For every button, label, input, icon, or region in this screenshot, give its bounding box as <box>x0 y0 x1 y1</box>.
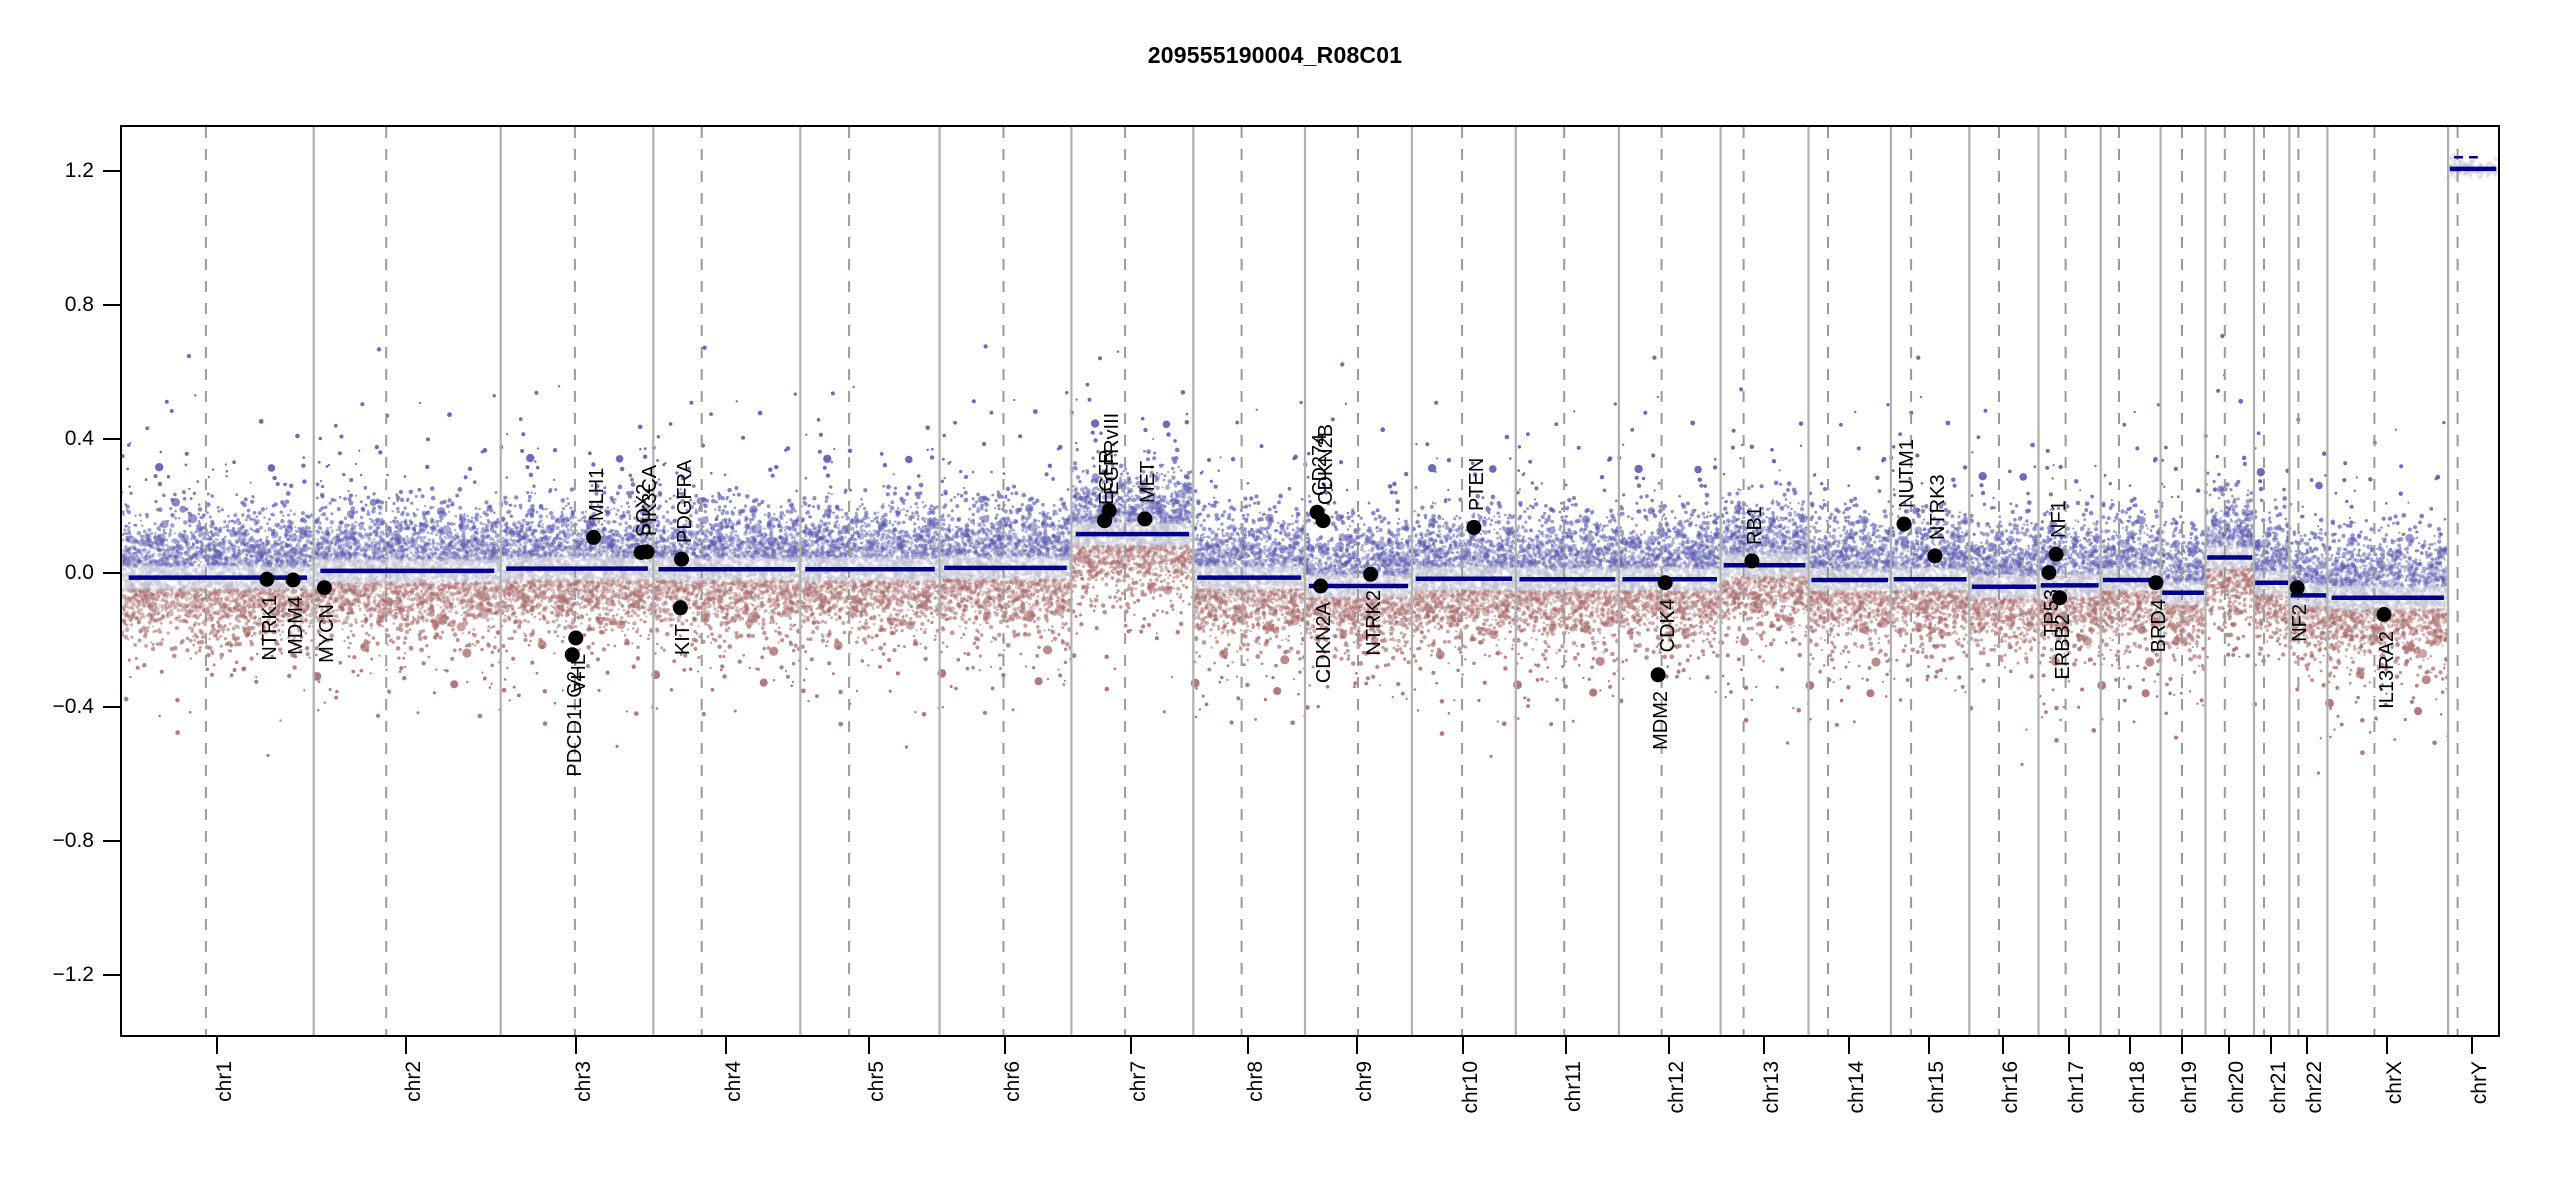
x-tick-label-chr16: chr16 <box>1999 1061 2023 1114</box>
gene-label-pik3ca: PIK3CA <box>639 465 662 536</box>
gene-marker-cdk4 <box>1658 575 1673 590</box>
gene-label-kit: KIT <box>672 624 695 655</box>
x-tick-mark-chr20 <box>2228 1037 2230 1054</box>
gene-marker-brd4 <box>2148 575 2163 590</box>
x-tick-mark-chr18 <box>2129 1037 2131 1054</box>
gene-label-nutm1: NUTM1 <box>1896 439 1919 508</box>
x-tick-mark-chr22 <box>2306 1037 2308 1054</box>
gene-label-mycn: MYCN <box>316 604 339 663</box>
gene-marker-mycn <box>317 580 332 595</box>
x-tick-mark-chr6 <box>1004 1037 1006 1054</box>
gene-label-mdm4: MDM4 <box>285 596 308 655</box>
gene-marker-mlh1 <box>586 530 601 545</box>
x-tick-mark-chr2 <box>405 1037 407 1054</box>
gene-label-nf1: NF1 <box>2048 500 2071 538</box>
x-tick-label-chr21: chr21 <box>2267 1061 2291 1114</box>
gene-label-egfrviii: EGFRvIII <box>1101 412 1124 494</box>
y-tick-mark <box>103 438 120 440</box>
x-tick-label-chr22: chr22 <box>2303 1061 2327 1114</box>
gene-marker-ntrk2 <box>1363 567 1378 582</box>
x-tick-label-chr3: chr3 <box>572 1061 596 1102</box>
x-tick-mark-chr4 <box>725 1037 727 1054</box>
gene-marker-mdm2 <box>1651 667 1666 682</box>
x-tick-mark-chr19 <box>2181 1037 2183 1054</box>
x-tick-mark-chr15 <box>1928 1037 1930 1054</box>
x-tick-label-chr6: chr6 <box>1001 1061 1025 1102</box>
gene-marker-nf1 <box>2049 547 2064 562</box>
y-axis: 1.20.80.40.0−0.4−0.8−1.2 <box>0 125 120 1037</box>
x-tick-label-chr4: chr4 <box>722 1061 746 1102</box>
y-tick-mark <box>103 304 120 306</box>
x-tick-label-chr7: chr7 <box>1127 1061 1151 1102</box>
gene-marker-ntrk3 <box>1927 548 1942 563</box>
x-tick-mark-chrX <box>2386 1037 2388 1054</box>
x-tick-mark-chr10 <box>1462 1037 1464 1054</box>
x-tick-mark-chr13 <box>1763 1037 1765 1054</box>
gene-label-cdkn2b: CDKN2B <box>1315 424 1338 505</box>
x-tick-label-chrX: chrX <box>2383 1061 2407 1104</box>
gene-marker-il13ra2 <box>2377 607 2392 622</box>
gene-label-rb1: RB1 <box>1744 506 1767 545</box>
y-tick-label: −1.2 <box>53 963 94 987</box>
gene-label-il13ra2: IL13RA2 <box>2376 631 2399 709</box>
gene-marker-mdm4 <box>286 573 301 588</box>
plot-area: NTRK1MDM4MYCNPDCD1LG2VHLMLH1SOX2PIK3CAPD… <box>120 125 2500 1037</box>
x-tick-label-chr5: chr5 <box>865 1061 889 1102</box>
plot-canvas <box>122 127 2498 1035</box>
x-tick-mark-chr21 <box>2270 1037 2272 1054</box>
x-tick-mark-chr9 <box>1356 1037 1358 1054</box>
x-tick-label-chr1: chr1 <box>213 1061 237 1102</box>
gene-marker-pik3ca <box>640 544 655 559</box>
x-tick-mark-chr16 <box>2002 1037 2004 1054</box>
x-tick-label-chr8: chr8 <box>1244 1061 1268 1102</box>
gene-label-erbb2: ERBB2 <box>2052 614 2075 680</box>
x-tick-label-chr18: chr18 <box>2126 1061 2150 1114</box>
gene-marker-rb1 <box>1744 553 1759 568</box>
gene-marker-pten <box>1466 520 1481 535</box>
gene-label-ntrk1: NTRK1 <box>259 595 282 661</box>
x-tick-label-chr9: chr9 <box>1353 1061 1377 1102</box>
x-tick-mark-chr5 <box>868 1037 870 1054</box>
gene-label-mlh1: MLH1 <box>586 468 609 521</box>
gene-label-nf2: NF2 <box>2289 604 2312 642</box>
x-tick-label-chr14: chr14 <box>1845 1061 1869 1114</box>
x-axis: chr1chr2chr3chr4chr5chr6chr7chr8chr9chr1… <box>120 1037 2500 1200</box>
y-tick-mark <box>103 572 120 574</box>
gene-marker-pdgfra <box>674 552 689 567</box>
gene-marker-ntrk1 <box>259 572 274 587</box>
gene-marker-met <box>1137 512 1152 527</box>
x-tick-label-chr11: chr11 <box>1562 1061 1586 1112</box>
x-tick-mark-chr7 <box>1130 1037 1132 1054</box>
y-tick-mark <box>103 170 120 172</box>
x-tick-label-chr15: chr15 <box>1925 1061 1949 1114</box>
x-tick-mark-chr17 <box>2068 1037 2070 1054</box>
y-tick-label: −0.8 <box>53 829 94 853</box>
page-title: 209555190004_R08C01 <box>0 42 2550 69</box>
gene-label-pdgfra: PDGFRA <box>674 460 697 543</box>
cnv-plot-page: 209555190004_R08C01 1.20.80.40.0−0.4−0.8… <box>0 0 2550 1200</box>
x-tick-label-chrY: chrY <box>2468 1061 2492 1104</box>
x-tick-label-chr20: chr20 <box>2225 1061 2249 1114</box>
gene-label-vhl: VHL <box>568 654 591 693</box>
gene-label-cdk4: CDK4 <box>1657 599 1680 652</box>
x-tick-mark-chr12 <box>1668 1037 1670 1054</box>
x-tick-mark-chr8 <box>1247 1037 1249 1054</box>
x-tick-mark-chr14 <box>1848 1037 1850 1054</box>
gene-marker-egfrviii <box>1102 503 1117 518</box>
gene-marker-tp53 <box>2041 565 2056 580</box>
gene-marker-nf2 <box>2290 580 2305 595</box>
x-tick-label-chr2: chr2 <box>402 1061 426 1102</box>
gene-label-met: MET <box>1137 461 1160 503</box>
y-tick-mark <box>103 974 120 976</box>
y-tick-label: 0.4 <box>65 427 94 451</box>
x-tick-mark-chr1 <box>216 1037 218 1054</box>
gene-marker-nutm1 <box>1897 517 1912 532</box>
gene-marker-cdkn2a <box>1313 579 1328 594</box>
gene-marker-kit <box>673 600 688 615</box>
x-tick-mark-chrY <box>2471 1037 2473 1054</box>
x-tick-label-chr10: chr10 <box>1459 1061 1483 1114</box>
y-tick-label: −0.4 <box>53 695 94 719</box>
x-tick-label-chr19: chr19 <box>2178 1061 2202 1114</box>
y-tick-label: 0.0 <box>65 561 94 585</box>
y-tick-label: 0.8 <box>65 293 94 317</box>
x-tick-label-chr12: chr12 <box>1665 1061 1689 1114</box>
gene-label-brd4: BRD4 <box>2148 599 2171 652</box>
y-tick-mark <box>103 840 120 842</box>
y-tick-mark <box>103 706 120 708</box>
gene-marker-vhl <box>568 631 583 646</box>
x-tick-label-chr13: chr13 <box>1760 1061 1784 1114</box>
y-tick-label: 1.2 <box>65 159 94 183</box>
x-tick-label-chr17: chr17 <box>2065 1061 2089 1114</box>
gene-label-ntrk3: NTRK3 <box>1927 474 1950 540</box>
gene-label-mdm2: MDM2 <box>1650 691 1673 750</box>
gene-marker-cdkn2b <box>1316 513 1331 528</box>
x-tick-mark-chr3 <box>575 1037 577 1054</box>
gene-label-ntrk2: NTRK2 <box>1363 590 1386 656</box>
x-tick-mark-chr11 <box>1565 1037 1567 1054</box>
gene-label-cdkn2a: CDKN2A <box>1313 602 1336 683</box>
gene-label-pten: PTEN <box>1466 458 1489 511</box>
